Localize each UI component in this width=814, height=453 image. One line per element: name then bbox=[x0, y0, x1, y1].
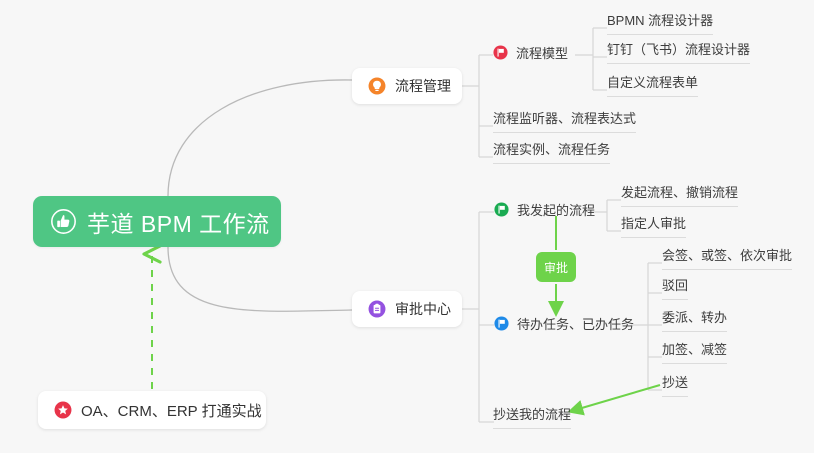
leaf-custom-process-form[interactable]: 自定义流程表单 bbox=[607, 74, 698, 97]
node-my-initiated-processes-label: 我发起的流程 bbox=[517, 200, 595, 219]
leaf-reject[interactable]: 驳回 bbox=[662, 277, 688, 300]
connector-root-to-process-management bbox=[168, 80, 352, 196]
node-process-management[interactable]: 流程管理 bbox=[352, 68, 462, 104]
leaf-cc[interactable]: 抄送 bbox=[662, 374, 688, 397]
node-process-management-label: 流程管理 bbox=[395, 76, 451, 96]
leaf-bpmn-designer[interactable]: BPMN 流程设计器 bbox=[607, 12, 713, 35]
leaf-process-instance-task[interactable]: 流程实例、流程任务 bbox=[493, 141, 610, 164]
leaf-delegate-transfer[interactable]: 委派、转办 bbox=[662, 309, 727, 332]
node-oa-crm-erp-integration-label: OA、CRM、ERP 打通实战 bbox=[81, 400, 262, 421]
root-node-label: 芋道 BPM 工作流 bbox=[87, 205, 270, 239]
node-my-initiated-processes[interactable]: 我发起的流程 bbox=[494, 200, 595, 219]
node-todo-done-tasks-label: 待办任务、已办任务 bbox=[517, 314, 634, 333]
leaf-process-listener-expression[interactable]: 流程监听器、流程表达式 bbox=[493, 110, 636, 133]
flag-icon bbox=[493, 45, 508, 60]
leaf-countersign-or-sequential[interactable]: 会签、或签、依次审批 bbox=[662, 247, 792, 270]
clipboard-icon bbox=[368, 300, 386, 318]
leaf-assignee-approval[interactable]: 指定人审批 bbox=[621, 215, 686, 238]
star-icon bbox=[54, 401, 72, 419]
leaf-dingtalk-feishu-designer[interactable]: 钉钉（飞书）流程设计器 bbox=[607, 41, 750, 64]
node-oa-crm-erp-integration[interactable]: OA、CRM、ERP 打通实战 bbox=[38, 391, 266, 429]
leaf-add-remove-sign[interactable]: 加签、减签 bbox=[662, 341, 727, 364]
flag-icon bbox=[494, 316, 509, 331]
mindmap-canvas: 芋道 BPM 工作流 流程管理 审批中心 bbox=[0, 0, 814, 453]
thumbs-up-icon bbox=[51, 209, 76, 234]
process-box-approval[interactable]: 审批 bbox=[536, 252, 576, 282]
leaf-cc-to-me[interactable]: 抄送我的流程 bbox=[493, 406, 571, 429]
process-box-approval-label: 审批 bbox=[544, 259, 568, 276]
flag-icon bbox=[494, 202, 509, 217]
lightbulb-icon bbox=[368, 77, 386, 95]
node-todo-done-tasks[interactable]: 待办任务、已办任务 bbox=[494, 314, 634, 333]
node-process-model[interactable]: 流程模型 bbox=[493, 43, 568, 62]
leaf-start-cancel-process[interactable]: 发起流程、撤销流程 bbox=[621, 184, 738, 207]
node-approval-center[interactable]: 审批中心 bbox=[352, 291, 462, 327]
connector-root-to-approval-center bbox=[168, 247, 352, 311]
root-node[interactable]: 芋道 BPM 工作流 bbox=[33, 196, 281, 247]
node-approval-center-label: 审批中心 bbox=[395, 299, 451, 319]
flow-arrow-cc-to-cc-mine bbox=[575, 385, 660, 410]
node-process-model-label: 流程模型 bbox=[516, 43, 568, 62]
